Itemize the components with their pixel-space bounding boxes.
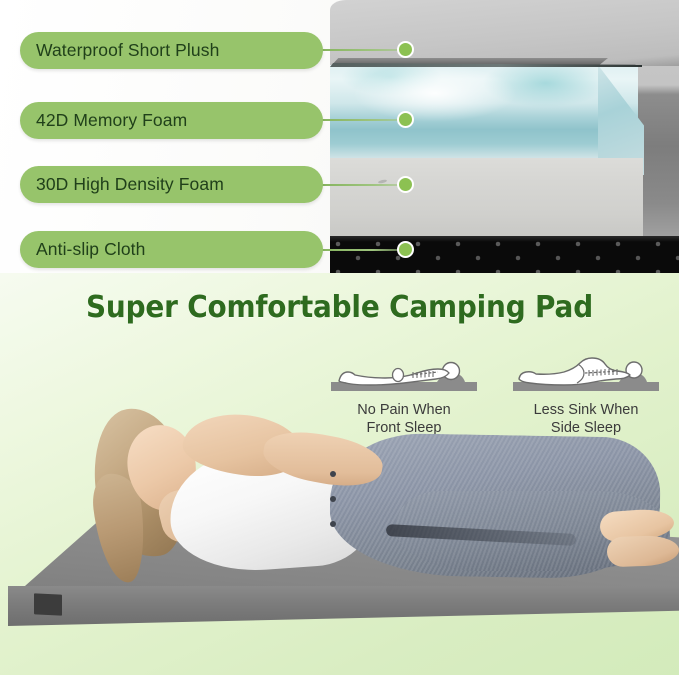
person-lying-front-icon [325,351,483,395]
camping-pad-brand-tag [34,593,62,615]
model-pants-buttons [330,471,342,537]
woman-lying-on-camping-pad-photo [0,403,679,675]
callout-dot-waterproof-short-plush [397,41,414,58]
callout-connector-line-2 [322,119,406,121]
layer-diagram-section: Waterproof Short Plush 42D Memory Foam 3… [0,0,679,273]
lifestyle-section: Super Comfortable Camping Pad No [0,273,679,675]
callout-connector-line-3 [322,184,406,186]
layer-42d-memory-foam [330,65,638,166]
callout-dot-30d-high-density-foam [397,176,414,193]
page-title: Super Comfortable Camping Pad [24,290,655,325]
mattress-cutaway-illustration [330,0,679,273]
person-lying-side-icon [507,351,665,395]
callout-dot-42d-memory-foam [397,111,414,128]
layer-label-42d-memory-foam: 42D Memory Foam [20,102,323,139]
layer-label-text: 42D Memory Foam [36,110,187,131]
product-infographic: Waterproof Short Plush 42D Memory Foam 3… [0,0,679,675]
callout-connector-line-4 [322,249,406,251]
layer-label-waterproof-short-plush: Waterproof Short Plush [20,32,323,69]
layer-waterproof-short-plush [330,0,679,66]
layer-30d-high-density-foam [330,158,643,238]
callout-connector-line-1 [322,49,406,51]
camping-pad-front-edge [8,586,679,626]
layer-label-anti-slip-cloth: Anti-slip Cloth [20,231,323,268]
layer-label-30d-high-density-foam: 30D High Density Foam [20,166,323,203]
layer-label-text: 30D High Density Foam [36,174,224,195]
layer-label-text: Waterproof Short Plush [36,40,219,61]
layer-label-text: Anti-slip Cloth [36,239,145,260]
anti-slip-cloth-highlight [330,236,679,242]
callout-dot-anti-slip-cloth [397,241,414,258]
